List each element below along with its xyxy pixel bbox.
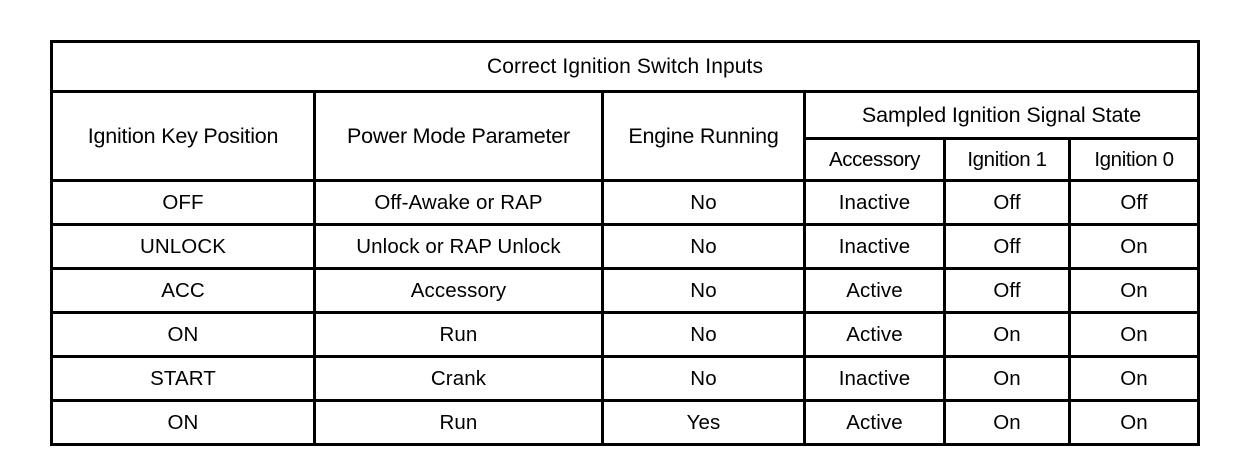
cell-ignition-1: On: [945, 313, 1070, 357]
cell-ignition-1: Off: [945, 225, 1070, 269]
header-accessory: Accessory: [805, 139, 945, 181]
table-row: ON Run Yes Active On On: [52, 401, 1199, 445]
table-row: UNLOCK Unlock or RAP Unlock No Inactive …: [52, 225, 1199, 269]
cell-accessory: Inactive: [805, 225, 945, 269]
cell-engine-running: No: [603, 357, 805, 401]
cell-ignition-0: On: [1070, 225, 1199, 269]
cell-power-mode: Crank: [315, 357, 603, 401]
cell-ignition-1: On: [945, 357, 1070, 401]
table-row: ACC Accessory No Active Off On: [52, 269, 1199, 313]
table-row: ON Run No Active On On: [52, 313, 1199, 357]
cell-ignition-0: On: [1070, 269, 1199, 313]
cell-ignition-1: Off: [945, 269, 1070, 313]
cell-ignition-0: Off: [1070, 181, 1199, 225]
cell-ignition-1: Off: [945, 181, 1070, 225]
table-title-row: Correct Ignition Switch Inputs: [52, 42, 1199, 92]
cell-key-position: ACC: [52, 269, 315, 313]
ignition-switch-table-container: Correct Ignition Switch Inputs Ignition …: [50, 40, 1197, 418]
cell-power-mode: Accessory: [315, 269, 603, 313]
cell-key-position: ON: [52, 313, 315, 357]
header-ignition-key-position: Ignition Key Position: [52, 92, 315, 181]
cell-accessory: Active: [805, 401, 945, 445]
cell-power-mode: Run: [315, 313, 603, 357]
table-header-row-primary: Ignition Key Position Power Mode Paramet…: [52, 92, 1199, 139]
header-engine-running: Engine Running: [603, 92, 805, 181]
cell-accessory: Active: [805, 313, 945, 357]
cell-power-mode: Run: [315, 401, 603, 445]
cell-engine-running: Yes: [603, 401, 805, 445]
cell-power-mode: Off-Awake or RAP: [315, 181, 603, 225]
cell-key-position: START: [52, 357, 315, 401]
cell-accessory: Active: [805, 269, 945, 313]
cell-engine-running: No: [603, 225, 805, 269]
cell-engine-running: No: [603, 181, 805, 225]
cell-key-position: OFF: [52, 181, 315, 225]
header-sampled-ignition-signal-state: Sampled Ignition Signal State: [805, 92, 1199, 139]
cell-ignition-0: On: [1070, 313, 1199, 357]
table-row: OFF Off-Awake or RAP No Inactive Off Off: [52, 181, 1199, 225]
cell-accessory: Inactive: [805, 357, 945, 401]
header-ignition-0: Ignition 0: [1070, 139, 1199, 181]
cell-key-position: UNLOCK: [52, 225, 315, 269]
header-ignition-1: Ignition 1: [945, 139, 1070, 181]
cell-ignition-0: On: [1070, 357, 1199, 401]
cell-key-position: ON: [52, 401, 315, 445]
cell-engine-running: No: [603, 269, 805, 313]
cell-engine-running: No: [603, 313, 805, 357]
cell-ignition-1: On: [945, 401, 1070, 445]
cell-ignition-0: On: [1070, 401, 1199, 445]
ignition-switch-inputs-table: Correct Ignition Switch Inputs Ignition …: [50, 40, 1200, 446]
table-row: START Crank No Inactive On On: [52, 357, 1199, 401]
table-title: Correct Ignition Switch Inputs: [52, 42, 1199, 92]
header-power-mode-parameter: Power Mode Parameter: [315, 92, 603, 181]
cell-accessory: Inactive: [805, 181, 945, 225]
cell-power-mode: Unlock or RAP Unlock: [315, 225, 603, 269]
